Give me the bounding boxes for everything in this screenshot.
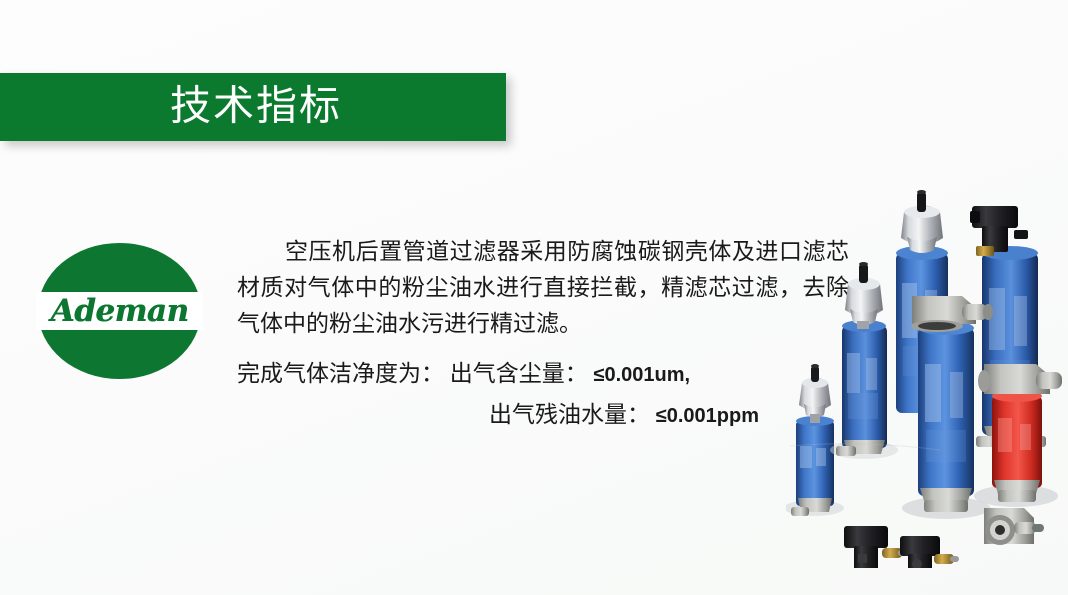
spec-block: 完成气体洁净度为： 出气含尘量： ≤0.001um, 出气残油水量： ≤0.00… (237, 354, 849, 436)
spec-line-dust: 完成气体洁净度为： 出气含尘量： ≤0.001um, (237, 354, 849, 395)
spec-value-dust: ≤0.001um, (594, 364, 691, 386)
intro-paragraph: 空压机后置管道过滤器采用防腐蚀碳钢壳体及进口滤芯材质对气体中的粉尘油水进行直接拦… (237, 234, 849, 342)
page-title: 技术指标 (170, 86, 342, 127)
aluminium-filter-head (911, 296, 993, 332)
slide-canvas: 技术指标 Ademan 空压机后置管道过滤器采用防腐蚀碳钢壳体及进口滤芯材质对气… (0, 0, 1068, 595)
spec-line-oil: 出气残油水量： ≤0.001ppm (237, 395, 849, 436)
solenoid-valve-loose-left (844, 526, 908, 568)
brand-logo: Ademan (38, 243, 201, 379)
metal-port-block (984, 508, 1044, 545)
spec-value-oil: ≤0.001ppm (656, 405, 759, 427)
spec-label-oil: 出气残油水量： (489, 402, 650, 427)
product-photo (786, 178, 1068, 568)
solenoid-valve-loose-right (900, 536, 959, 568)
blue-filter-small-front-left (786, 364, 844, 516)
body-copy: 空压机后置管道过滤器采用防腐蚀碳钢壳体及进口滤芯材质对气体中的粉尘油水进行直接拦… (237, 234, 849, 436)
title-banner: 技术指标 (0, 73, 506, 141)
blue-filter-medium-left (830, 262, 898, 459)
logo-wordmark: Ademan (38, 292, 201, 330)
spec-label-dust: 完成气体洁净度为： 出气含尘量： (237, 361, 588, 386)
